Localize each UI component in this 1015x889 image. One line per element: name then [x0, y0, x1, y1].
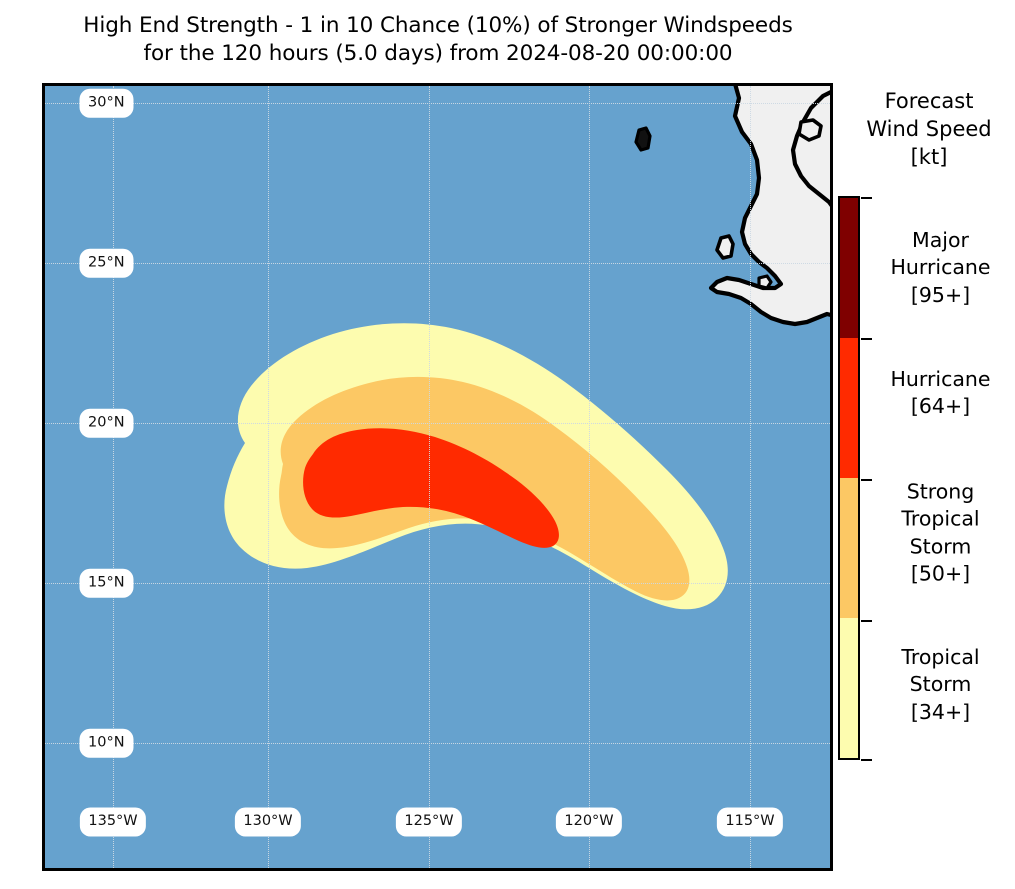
- colorbar-label-hurricane: Hurricane [64+]: [866, 366, 1015, 421]
- coastal-islet: [759, 276, 771, 288]
- label-line: Hurricane: [866, 254, 1015, 281]
- label-line: Tropical: [866, 506, 1015, 533]
- colorbar-title-line-1: Forecast: [843, 88, 1015, 116]
- label-line: Major: [866, 227, 1015, 254]
- isla-cedros: [717, 236, 733, 258]
- colorbar-segment-strong-tropical-storm[interactable]: [840, 478, 858, 618]
- label-line: [95+]: [866, 282, 1015, 309]
- colorbar-segment-tropical-storm[interactable]: [840, 618, 858, 758]
- label-line: Tropical: [866, 644, 1015, 671]
- colorbar-tick-34: [861, 759, 872, 761]
- lon-label-135: 135°W: [81, 809, 144, 835]
- colorbar-title-line-3: [kt]: [843, 144, 1015, 172]
- colorbar-label-strong-tropical-storm: Strong Tropical Storm [50+]: [866, 479, 1015, 588]
- lon-label-115: 115°W: [718, 809, 781, 835]
- title-line-2: for the 120 hours (5.0 days) from 2024-0…: [0, 40, 876, 68]
- colorbar-title: Forecast Wind Speed [kt]: [843, 88, 1015, 172]
- label-line: [50+]: [866, 560, 1015, 587]
- map-canvas: [45, 86, 830, 868]
- colorbar-tick-95: [861, 338, 872, 340]
- label-line: Strong: [866, 479, 1015, 506]
- label-line: Storm: [866, 671, 1015, 698]
- label-line: [34+]: [866, 699, 1015, 726]
- title-line-1: High End Strength - 1 in 10 Chance (10%)…: [0, 12, 876, 40]
- lat-label-10: 10°N: [81, 730, 132, 756]
- lon-label-130: 130°W: [236, 809, 299, 835]
- lon-label-125: 125°W: [397, 809, 460, 835]
- colorbar-segment-major-hurricane[interactable]: [840, 198, 858, 338]
- colorbar-label-major-hurricane: Major Hurricane [95+]: [866, 227, 1015, 309]
- isla-angel-de-la-guarda: [799, 120, 821, 140]
- colorbar-label-tropical-storm: Tropical Storm [34+]: [866, 644, 1015, 726]
- colorbar-segment-hurricane[interactable]: [840, 338, 858, 478]
- page-title: High End Strength - 1 in 10 Chance (10%)…: [0, 12, 876, 68]
- forecast-map[interactable]: 30°N 25°N 20°N 15°N 10°N 135°W 130°W 125…: [42, 83, 833, 871]
- label-line: Storm: [866, 533, 1015, 560]
- lat-label-30: 30°N: [81, 90, 132, 116]
- lat-label-25: 25°N: [81, 250, 132, 276]
- colorbar-title-line-2: Wind Speed: [843, 116, 1015, 144]
- isla-guadalupe: [636, 128, 650, 150]
- label-line: Hurricane: [866, 366, 1015, 393]
- label-line: [64+]: [866, 393, 1015, 420]
- colorbar-tick-top: [861, 197, 872, 199]
- lon-label-120: 120°W: [557, 809, 620, 835]
- lat-label-20: 20°N: [81, 410, 132, 436]
- lat-label-15: 15°N: [81, 570, 132, 596]
- wind-speed-colorbar[interactable]: [838, 196, 860, 760]
- colorbar-tick-50: [861, 620, 872, 622]
